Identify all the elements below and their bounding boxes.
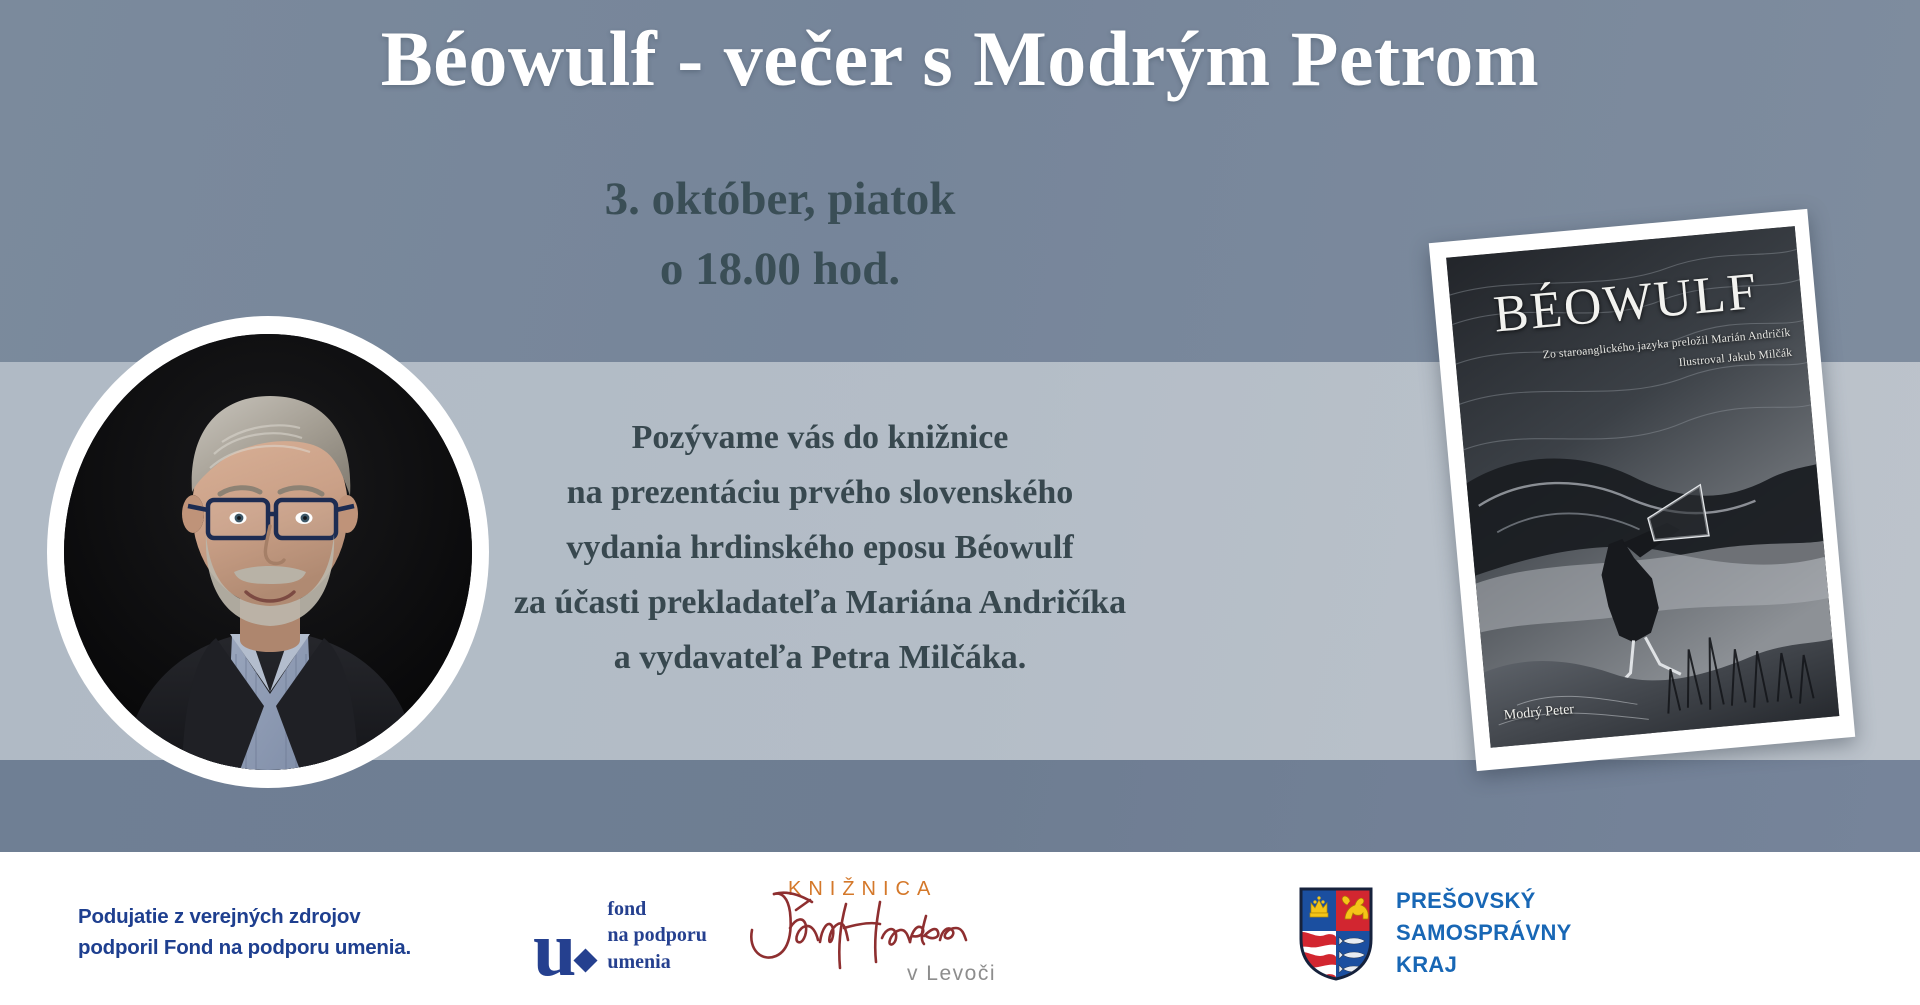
portrait-frame [47, 316, 489, 788]
presov-region-text: PREŠOVSKÝ SAMOSPRÁVNY KRAJ [1396, 885, 1572, 981]
fpu-text-line-1: fond [607, 896, 707, 922]
invitation-line-1: Pozývame vás do knižnice [440, 410, 1200, 465]
psk-line-2: SAMOSPRÁVNY [1396, 917, 1572, 949]
fpu-logo-text: fond na podporu umenia [607, 896, 707, 975]
psk-line-3: KRAJ [1396, 949, 1572, 981]
avatar [64, 334, 472, 770]
support-statement-line-2: podporil Fond na podporu umenia. [78, 933, 411, 964]
book-cover-artwork: BÉOWULF Zo staroanglického jazyka prelož… [1446, 226, 1839, 748]
book-cover: BÉOWULF Zo staroanglického jazyka prelož… [1429, 209, 1855, 771]
psk-line-1: PREŠOVSKÝ [1396, 885, 1572, 917]
library-word-levoci: v Levoči [907, 962, 996, 986]
invitation-line-4: za účasti prekladateľa Mariána Andričíka [440, 575, 1200, 630]
fpu-u-mark: u [533, 921, 574, 977]
support-statement: Podujatie z verejných zdrojov podporil F… [78, 902, 411, 964]
invitation-line-2: na prezentáciu prvého slovenského [440, 465, 1200, 520]
event-poster: Béowulf - večer s Modrým Petrom 3. októb… [0, 0, 1920, 1005]
library-script-signature [740, 884, 1000, 970]
event-time: o 18.00 hod. [370, 235, 1190, 305]
invitation-text: Pozývame vás do knižnice na prezentáciu … [440, 410, 1200, 685]
presov-coat-of-arms-icon [1297, 885, 1375, 981]
fpu-logo[interactable]: u fond na podporu umenia [533, 896, 707, 977]
invitation-line-3: vydania hrdinského eposu Béowulf [440, 520, 1200, 575]
fpu-diamond-dot-icon [574, 949, 598, 973]
portrait-illustration [64, 334, 472, 770]
support-statement-line-1: Podujatie z verejných zdrojov [78, 902, 411, 933]
fpu-text-line-3: umenia [607, 949, 707, 975]
event-date: 3. október, piatok [370, 165, 1190, 235]
jana-henkela-script-icon [740, 884, 1000, 970]
fpu-text-line-2: na podporu [607, 922, 707, 948]
presov-region-logo[interactable]: PREŠOVSKÝ SAMOSPRÁVNY KRAJ [1297, 885, 1572, 981]
event-datetime: 3. október, piatok o 18.00 hod. [370, 165, 1190, 304]
invitation-line-5: a vydavateľa Petra Milčáka. [440, 630, 1200, 685]
library-logo[interactable]: KNIŽNICA [740, 878, 1000, 982]
footer-sponsors-bar: Podujatie z verejných zdrojov podporil F… [0, 852, 1920, 1005]
poster-title: Béowulf - večer s Modrým Petrom [0, 18, 1920, 101]
